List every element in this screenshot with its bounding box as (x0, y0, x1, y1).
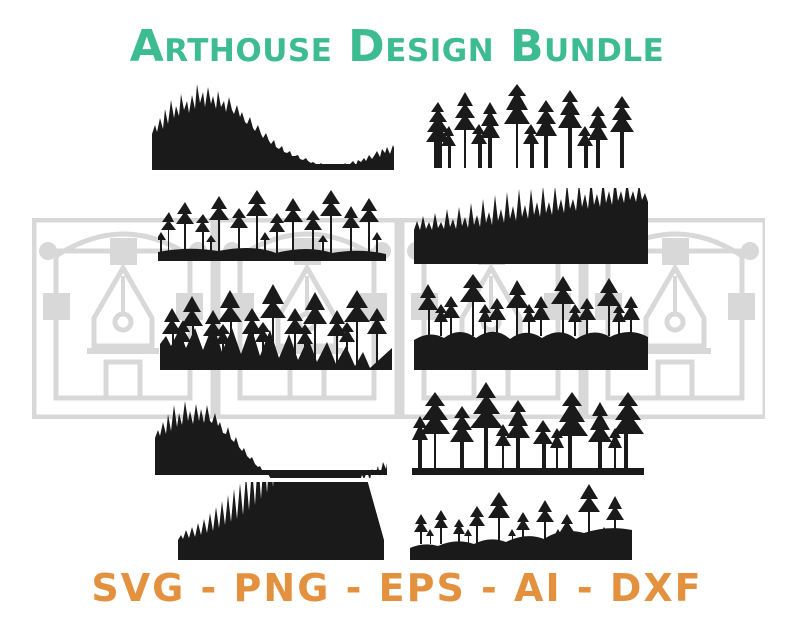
design-item-u-valley-treeline-silhouette[interactable] (155, 390, 387, 478)
design-item-dense-forest-cluster-silhouette[interactable] (160, 278, 392, 370)
design-item-forest-mound-silhouette[interactable] (178, 482, 384, 560)
bundle-preview-canvas: Arthouse Design Bundle (0, 0, 794, 635)
file-formats-label: SVG - PNG - EPS - AI - DXF (0, 566, 794, 610)
design-item-valley-forest-silhouette[interactable] (152, 82, 394, 170)
design-item-solid-forest-block-silhouette[interactable] (414, 188, 648, 264)
design-item-spaced-spruce-row-silhouette[interactable] (412, 374, 644, 478)
design-item-pine-treeline-ground-silhouette[interactable] (158, 182, 386, 264)
design-gallery (0, 78, 794, 558)
bundle-title: Arthouse Design Bundle (0, 22, 794, 72)
design-item-sparse-ridge-treeline-silhouette[interactable] (410, 482, 632, 560)
design-item-tall-pine-row-silhouette[interactable] (420, 82, 642, 170)
design-item-forest-on-hills-silhouette[interactable] (414, 274, 648, 370)
